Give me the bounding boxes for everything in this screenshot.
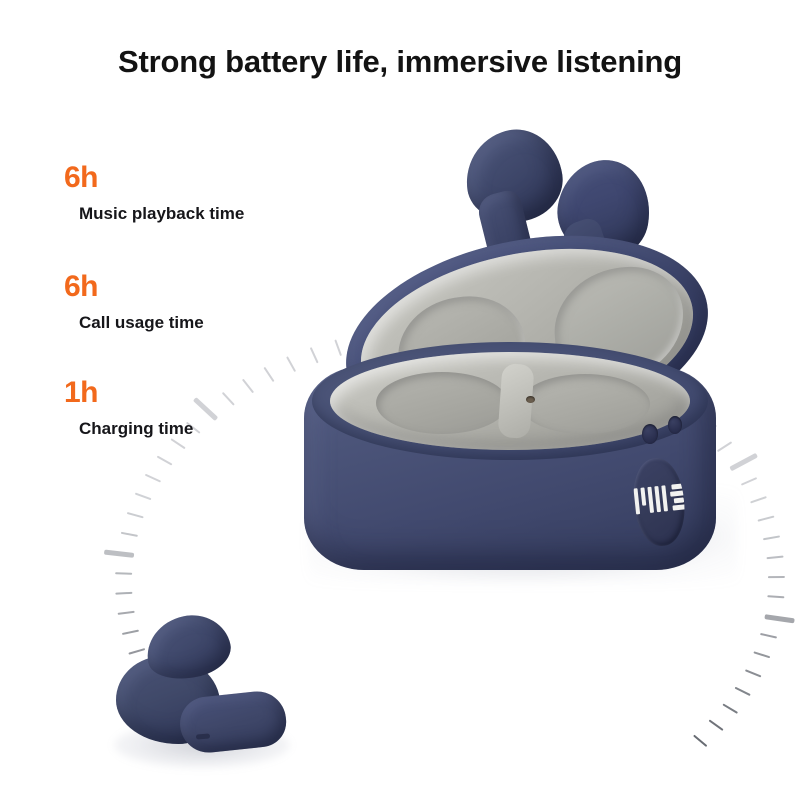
logo-bar: [640, 487, 646, 505]
dial-tick-minor: [760, 633, 777, 639]
dial-tick-minor: [708, 719, 723, 731]
spec-item-call-usage: 6h Call usage time: [64, 272, 204, 331]
spec-item-music-playback: 6h Music playback time: [64, 163, 244, 222]
tray-cavity-right: [520, 374, 650, 434]
earbud-loose: [108, 612, 288, 772]
logo-bar: [670, 490, 686, 497]
dial-tick-minor: [127, 512, 144, 519]
spec-label: Music playback time: [79, 205, 244, 222]
dial-tick-minor: [157, 455, 173, 465]
charging-case: [286, 120, 756, 660]
brand-logo-icon: [630, 483, 689, 521]
dial-tick-minor: [222, 392, 235, 406]
dial-tick-major: [193, 397, 218, 421]
logo-bar: [633, 488, 640, 514]
dial-tick-minor: [263, 367, 274, 382]
dial-tick-minor: [722, 703, 738, 714]
brand-logo-badge: [630, 456, 689, 549]
dial-tick-minor: [766, 556, 783, 560]
tray-cavity-left: [376, 372, 508, 434]
dial-tick-major: [104, 550, 134, 558]
dial-tick-major: [764, 614, 794, 623]
dial-tick-minor: [135, 492, 152, 500]
logo-bar: [661, 485, 668, 511]
dial-tick-minor: [745, 669, 762, 678]
dial-tick-minor: [693, 735, 708, 748]
led-indicator-dot: [642, 424, 658, 444]
microphone-dot: [668, 416, 682, 434]
dial-tick-minor: [242, 378, 254, 393]
spec-item-charging-time: 1h Charging time: [64, 378, 193, 437]
spec-value: 1h: [64, 378, 193, 408]
dial-tick-minor: [768, 576, 785, 579]
dial-tick-minor: [115, 591, 132, 594]
logo-bar: [671, 483, 683, 489]
dial-tick-minor: [758, 515, 775, 522]
dial-tick-minor: [115, 572, 132, 575]
dial-tick-minor: [734, 687, 750, 697]
spec-label: Call usage time: [79, 314, 204, 331]
spec-value: 6h: [64, 272, 204, 302]
case-tray: [330, 352, 690, 450]
case-body: [304, 366, 716, 570]
logo-bar: [654, 486, 661, 512]
dial-tick-minor: [763, 535, 780, 540]
dial-tick-minor: [170, 438, 185, 449]
dial-tick-minor: [767, 595, 784, 598]
logo-bar: [647, 487, 654, 513]
product-feature-banner: Strong battery life, immersive listening…: [0, 0, 800, 800]
dial-tick-minor: [145, 473, 161, 482]
spec-label: Charging time: [79, 420, 193, 437]
dial-tick-minor: [121, 531, 138, 537]
spec-value: 6h: [64, 163, 244, 193]
logo-bar: [672, 504, 686, 510]
logo-bar: [674, 497, 684, 503]
page-title: Strong battery life, immersive listening: [0, 44, 800, 80]
charging-contact-pin: [526, 396, 535, 403]
